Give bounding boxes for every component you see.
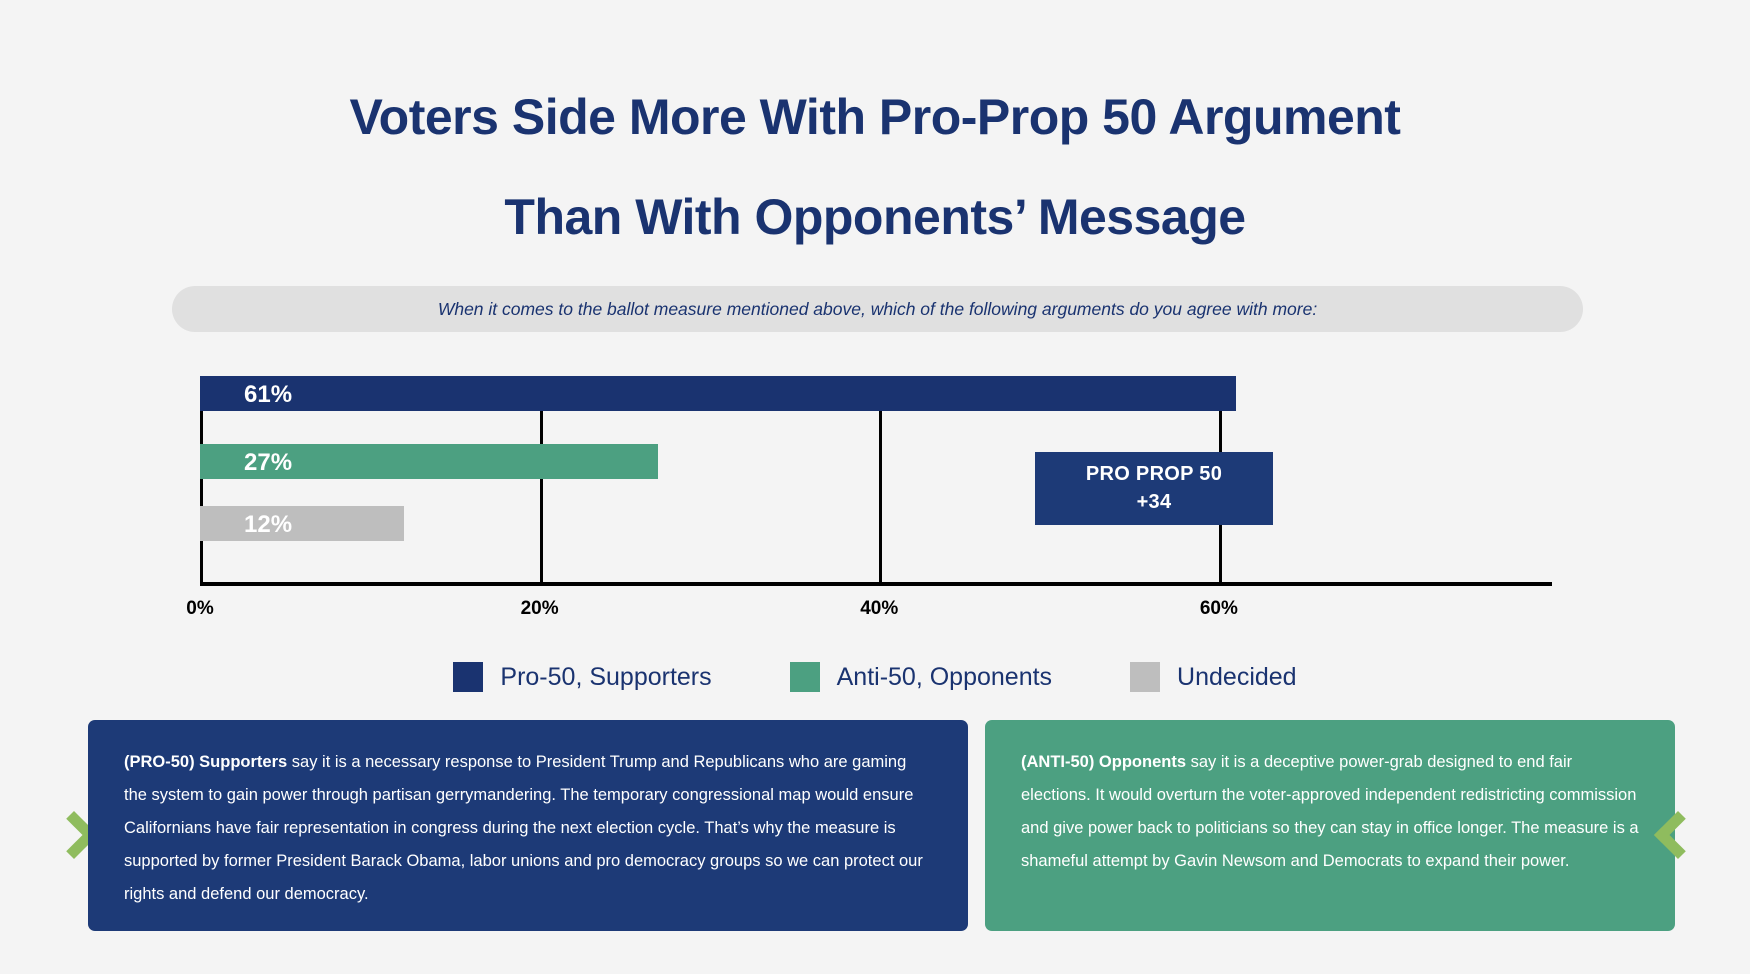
argument-box-pro-50: (PRO-50) Supporters say it is a necessar… xyxy=(88,720,968,931)
legend-swatch-icon xyxy=(790,662,820,692)
bar-value-label: 61% xyxy=(244,381,292,409)
x-axis-line xyxy=(200,582,1552,586)
legend-item-pro-50: Pro-50, Supporters xyxy=(453,662,711,692)
chart-legend: Pro-50, Supporters Anti-50, Opponents Un… xyxy=(0,662,1750,692)
legend-label: Undecided xyxy=(1177,663,1297,692)
legend-swatch-icon xyxy=(453,662,483,692)
bar-row: 12% xyxy=(200,506,404,541)
argument-text-anti-50: (ANTI-50) Opponents say it is a deceptiv… xyxy=(1021,746,1639,878)
survey-question-text: When it comes to the ballot measure ment… xyxy=(438,299,1317,320)
bar-value-label: 27% xyxy=(244,449,292,477)
callout-margin: +34 xyxy=(1137,491,1172,514)
legend-swatch-icon xyxy=(1130,662,1160,692)
x-tick-label: 20% xyxy=(521,598,559,620)
bar-anti-50: 27% xyxy=(200,444,658,479)
legend-label: Anti-50, Opponents xyxy=(837,663,1052,692)
argument-body-pro-50: say it is a necessary response to Presid… xyxy=(124,753,923,903)
bar-chart: 61% 27% 12% 0%20%40%60% xyxy=(0,370,1750,610)
argument-text-pro-50: (PRO-50) Supporters say it is a necessar… xyxy=(124,746,932,911)
legend-item-undecided: Undecided xyxy=(1130,662,1297,692)
page-title: Voters Side More With Pro-Prop 50 Argume… xyxy=(0,0,1750,242)
argument-lead-pro-50: (PRO-50) Supporters xyxy=(124,753,287,771)
legend-item-anti-50: Anti-50, Opponents xyxy=(790,662,1052,692)
margin-callout-badge: PRO PROP 50 +34 xyxy=(1035,452,1273,525)
bar-undecided: 12% xyxy=(200,506,404,541)
page-title-line-1: Voters Side More With Pro-Prop 50 Argume… xyxy=(0,92,1750,142)
callout-title: PRO PROP 50 xyxy=(1086,463,1222,486)
bar-pro-50: 61% xyxy=(200,376,1236,411)
bar-value-label: 12% xyxy=(244,511,292,539)
x-tick-label: 0% xyxy=(186,598,213,620)
page-title-line-2: Than With Opponents’ Message xyxy=(0,192,1750,242)
x-tick-label: 40% xyxy=(860,598,898,620)
subtitle-pill: When it comes to the ballot measure ment… xyxy=(172,286,1583,332)
argument-boxes: (PRO-50) Supporters say it is a necessar… xyxy=(0,720,1750,940)
legend-label: Pro-50, Supporters xyxy=(500,663,711,692)
bar-row: 27% xyxy=(200,444,658,479)
x-tick-label: 60% xyxy=(1200,598,1238,620)
argument-lead-anti-50: (ANTI-50) Opponents xyxy=(1021,753,1186,771)
argument-box-anti-50: (ANTI-50) Opponents say it is a deceptiv… xyxy=(985,720,1675,931)
bar-row: 61% xyxy=(200,376,1236,411)
